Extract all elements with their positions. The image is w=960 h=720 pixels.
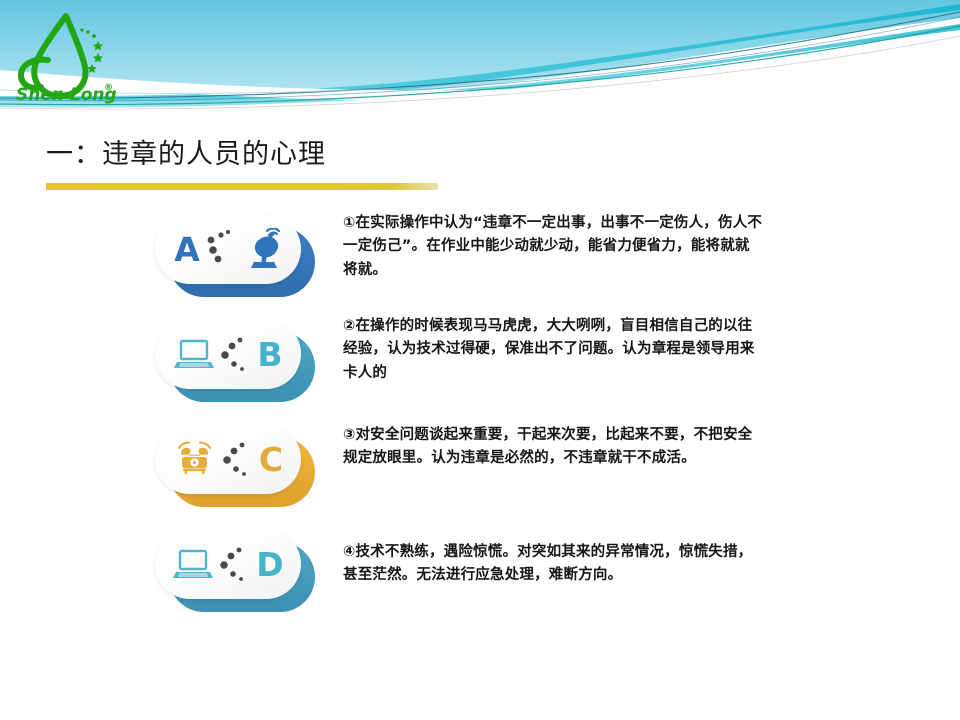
title-underline-rule	[46, 183, 438, 190]
dots-icon	[221, 438, 255, 480]
badge-d[interactable]: D	[155, 529, 305, 607]
item-text: ③对安全问题谈起来重要，干起来次要，比起来不要，不把安全规定放眼里。认为违章是必…	[343, 424, 763, 471]
shen-long-logo: Shen Long ®	[8, 8, 120, 108]
list-item: A	[0, 206, 960, 311]
item-text: ①在实际操作中认为“违章不一定出事，出事不一定伤人，伤人不一定伤己”。在作业中能…	[343, 212, 763, 282]
telephone-icon	[173, 439, 217, 479]
badge-letter: C	[259, 443, 283, 476]
badge-b[interactable]: B	[155, 319, 305, 397]
item-text: ②在操作的时候表现马马虎虎，大大咧咧，盲目相信自己的以往经验，认为技术过得硬，保…	[343, 315, 763, 385]
badge-a[interactable]: A	[155, 214, 305, 292]
badge-letter: B	[257, 338, 282, 371]
list-item: D ④技术不熟练，遇险惊慌。对突如其来的异常情况，惊慌失措，甚至茫然。无法进行应…	[0, 521, 960, 629]
dots-icon	[219, 333, 253, 375]
list-item: C ③对安全问题谈起来重要，干起来次要，比起来不要，不把安全规定放眼里。认为违章…	[0, 416, 960, 521]
badge-letter: A	[174, 233, 200, 266]
logo-wordmark: Shen Long	[16, 85, 117, 105]
list-item: B ②在操作的时候表现马马虎虎，大大咧咧，盲目相信自己的以往经验，认为技术过得硬…	[0, 311, 960, 416]
content-rows: A	[0, 206, 960, 629]
satellite-dish-icon	[242, 228, 282, 270]
logo-registered-mark: ®	[104, 83, 113, 93]
badge-c[interactable]: C	[155, 424, 305, 502]
laptop-icon	[172, 544, 214, 584]
badge-letter: D	[256, 548, 283, 581]
dots-icon	[218, 543, 252, 585]
item-text: ④技术不熟练，遇险惊慌。对突如其来的异常情况，惊慌失措，甚至茫然。无法进行应急处…	[343, 541, 763, 588]
laptop-icon	[173, 334, 215, 374]
dots-icon	[204, 228, 238, 270]
decorative-wave-banner	[0, 0, 960, 122]
presentation-slide: Shen Long ® 一：违章的人员的心理 A	[0, 0, 960, 720]
page-title: 一：违章的人员的心理	[46, 138, 566, 172]
title-block: 一：违章的人员的心理	[46, 138, 566, 190]
